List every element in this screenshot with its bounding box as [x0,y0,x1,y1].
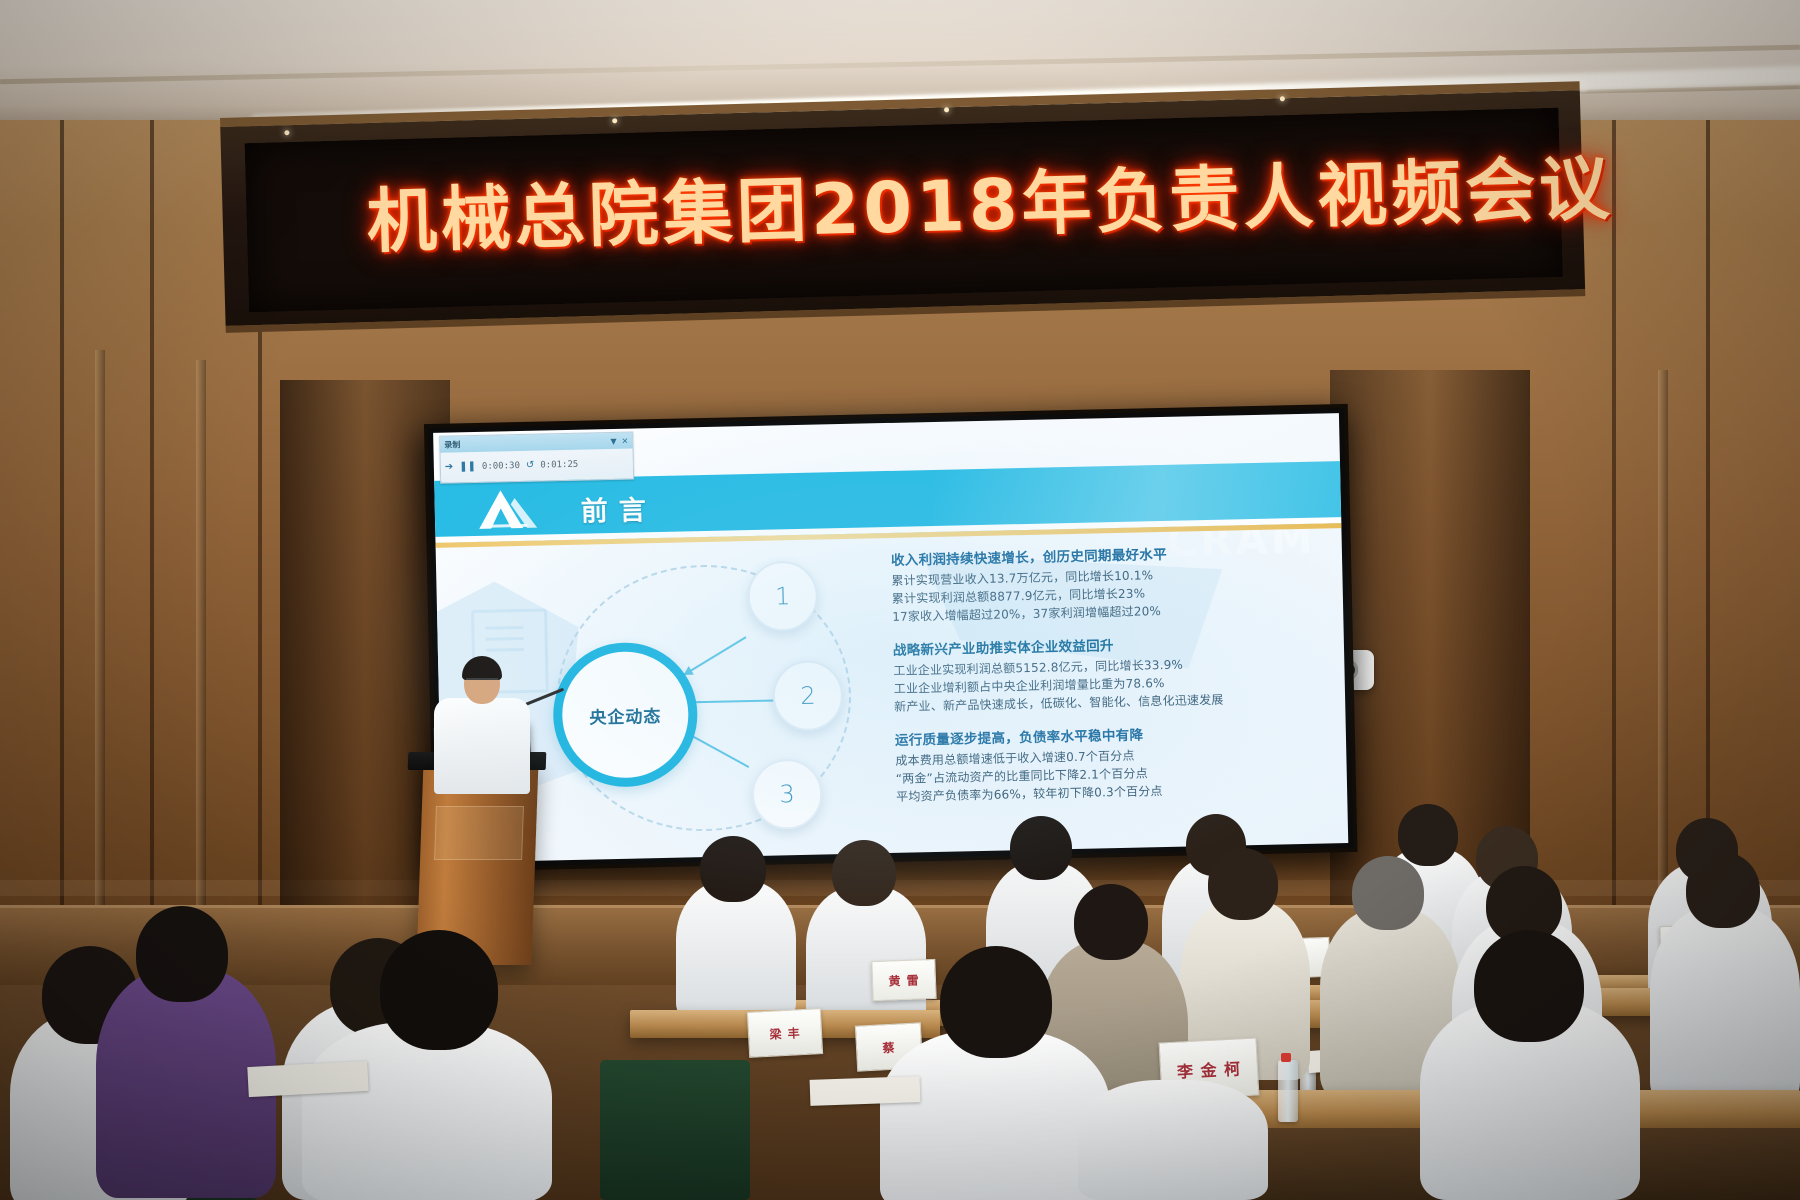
arrow-right-icon[interactable]: ➔ [445,461,454,472]
placard-name: 蔡 [882,1038,896,1056]
name-placard: 黄 雷 [871,959,936,1001]
pause-icon[interactable]: ❚❚ [459,461,476,472]
diagram-node-label: 2 [800,682,816,710]
undo-icon[interactable]: ↺ [526,460,535,471]
diagram-center-label: 央企动态 [589,701,662,728]
ceiling-downlight [944,107,949,112]
attendee-head [700,836,766,902]
slide-text-block: 收入利润持续快速增长，创历史同期最好水平 累计实现营业收入13.7万亿元，同比增… [891,540,1313,625]
chevron-down-icon[interactable]: ▼ [610,436,616,445]
attendee-head [1686,852,1760,928]
ceiling-downlight [1280,96,1285,101]
attendee-head [1074,884,1148,960]
close-icon[interactable]: ✕ [622,436,629,445]
podium-emblem [434,806,524,860]
attendee-head [1010,816,1072,880]
cram-logo-icon [470,487,545,533]
toolbar-title: 录制 [444,439,460,450]
document-on-desk [810,1076,921,1106]
diagram-node-label: 3 [779,780,795,808]
attendee-head [1208,848,1278,920]
slide-text-block: 运行质量逐步提高，负债率水平稳中有降 成本费用总额增速低于收入增速0.7个百分点… [895,720,1317,805]
placard-name: 李 金 柯 [1176,1055,1241,1082]
slide-timer: 0:00:30 [482,461,520,472]
water-bottle [1278,1060,1298,1122]
led-banner: 机械总院集团2018年负责人视频会议 [220,81,1585,333]
chair-back [600,1060,750,1200]
ceiling-downlight [284,130,289,135]
room-background: 机械总院集团2018年负责人视频会议 录制 [0,0,1800,1200]
led-panel: 机械总院集团2018年负责人视频会议 [245,108,1563,312]
attendee-head [1474,930,1584,1042]
powerpoint-slide[interactable]: 录制 ▼ ✕ ➔ ❚❚ 0:00:30 ↺ 0:01:25 [433,413,1348,863]
wall-seam [150,120,154,1000]
document-on-desk [247,1061,368,1097]
presenter-glasses [466,678,498,688]
name-placard: 梁 丰 [747,1008,823,1058]
slide-text-column: 收入利润持续快速增长，创历史同期最好水平 累计实现营业收入13.7万亿元，同比增… [891,540,1317,819]
attendee-head [1398,804,1458,866]
wall-seam [1612,120,1616,980]
conference-room-photo: 机械总院集团2018年负责人视频会议 录制 [0,0,1800,1200]
banner-title: 机械总院集团2018年负责人视频会议 [365,134,1567,267]
attendee-head [136,906,228,1002]
presenter-body [434,698,530,794]
attendee-head [832,840,896,906]
placard-name: 梁 丰 [769,1024,801,1043]
diagram-node-label: 1 [775,582,791,610]
ppt-recording-toolbar[interactable]: 录制 ▼ ✕ ➔ ❚❚ 0:00:30 ↺ 0:01:25 [439,432,634,484]
attendee-head [380,930,498,1050]
attendee-body [1650,906,1800,1106]
projection-screen[interactable]: 录制 ▼ ✕ ➔ ❚❚ 0:00:30 ↺ 0:01:25 [428,408,1353,868]
slide-text-block: 战略新兴产业助推实体企业效益回升 工业企业实现利润总额5152.8亿元，同比增长… [893,630,1315,715]
slide-title: 前言 [580,488,657,529]
attendee-body [806,886,926,1026]
attendee-head [1352,856,1424,930]
diagram-node-3: 3 [751,758,823,830]
total-timer: 0:01:25 [540,459,578,470]
attendee-head [940,946,1052,1058]
slide-diagram: 央企动态 1 2 3 [532,551,878,840]
attendee-body [1078,1080,1268,1200]
placard-name: 黄 雷 [888,971,920,989]
toolbar-controls[interactable]: ➔ ❚❚ 0:00:30 ↺ 0:01:25 [441,449,634,482]
